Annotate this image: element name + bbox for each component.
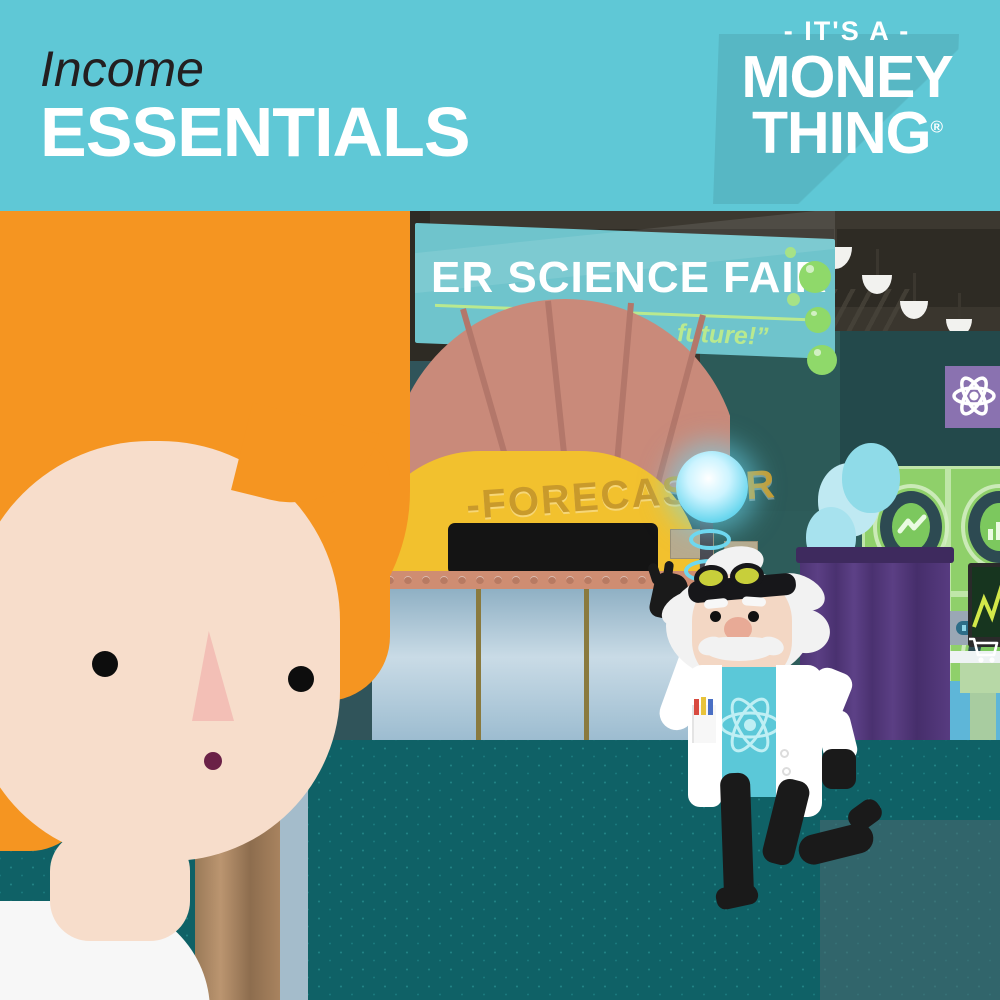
registered-trademark-icon: ® xyxy=(931,117,943,136)
pen xyxy=(708,699,713,715)
bar-chart-icon xyxy=(984,511,1000,543)
title-block: Income ESSENTIALS xyxy=(40,44,470,170)
window-mullion xyxy=(476,589,481,741)
scientist-eye xyxy=(748,611,759,622)
banner-headline: ER SCIENCE FAIR xyxy=(431,253,827,303)
scientist-character xyxy=(630,541,900,961)
logo-word-thing: THING® xyxy=(722,105,972,163)
rivet xyxy=(620,576,628,584)
pendant-light xyxy=(900,273,928,319)
rivet xyxy=(440,576,448,584)
scientist-eyebrow xyxy=(742,596,767,607)
coat-button xyxy=(782,767,791,776)
banner-bubble xyxy=(805,307,831,333)
scientist-left-leg xyxy=(720,773,754,902)
header-bar: Income ESSENTIALS - IT'S A - MONEY THING… xyxy=(0,0,1000,211)
rivet xyxy=(566,576,574,584)
rivet xyxy=(494,576,502,584)
rivet xyxy=(476,576,484,584)
banner-bubble xyxy=(785,247,796,258)
girl-character xyxy=(0,211,410,1000)
illustration-scene: ER SCIENCE FAIR future!” -FORECASTER xyxy=(0,211,1000,1000)
desk-surface xyxy=(960,663,1000,693)
rivet xyxy=(602,576,610,584)
logo-word-money: MONEY xyxy=(722,49,972,107)
lightning-zigzag-icon xyxy=(896,511,928,543)
girl-eye-right xyxy=(288,666,314,692)
pen xyxy=(701,697,706,715)
banner-bubble xyxy=(787,293,800,306)
rivet xyxy=(422,576,430,584)
machine-display xyxy=(448,523,658,575)
pendant-light xyxy=(862,249,892,295)
image-canvas: ER SCIENCE FAIR future!” -FORECASTER xyxy=(0,0,1000,1000)
logo-thing-text: THING xyxy=(752,100,931,166)
page-title: ESSENTIALS xyxy=(40,96,470,170)
pen xyxy=(694,699,699,715)
rivet xyxy=(548,576,556,584)
shopping-cart-icon xyxy=(966,635,1000,665)
logo-tagline: - IT'S A - xyxy=(722,18,972,45)
banner-bubble xyxy=(799,261,831,293)
scientist-right-glove xyxy=(822,749,856,789)
scientist-left-shoe xyxy=(714,881,760,911)
scientist-eye xyxy=(710,611,721,622)
girl-neck xyxy=(50,831,190,941)
brand-logo[interactable]: - IT'S A - MONEY THING® xyxy=(722,18,972,198)
coat-button xyxy=(780,749,789,758)
window-mullion xyxy=(584,589,589,741)
girl-eye-left xyxy=(92,651,118,677)
banner-bubble xyxy=(807,345,837,375)
rivet xyxy=(530,576,538,584)
balloon xyxy=(842,443,900,513)
line-chart-icon xyxy=(972,577,1000,633)
glowing-orb xyxy=(676,451,748,523)
page-eyebrow: Income xyxy=(40,44,470,94)
girl-mouth xyxy=(204,752,222,770)
rivet xyxy=(512,576,520,584)
atom-icon xyxy=(716,691,784,759)
atom-icon xyxy=(950,371,998,421)
rivet xyxy=(584,576,592,584)
rivet xyxy=(458,576,466,584)
girl-face xyxy=(0,441,340,861)
